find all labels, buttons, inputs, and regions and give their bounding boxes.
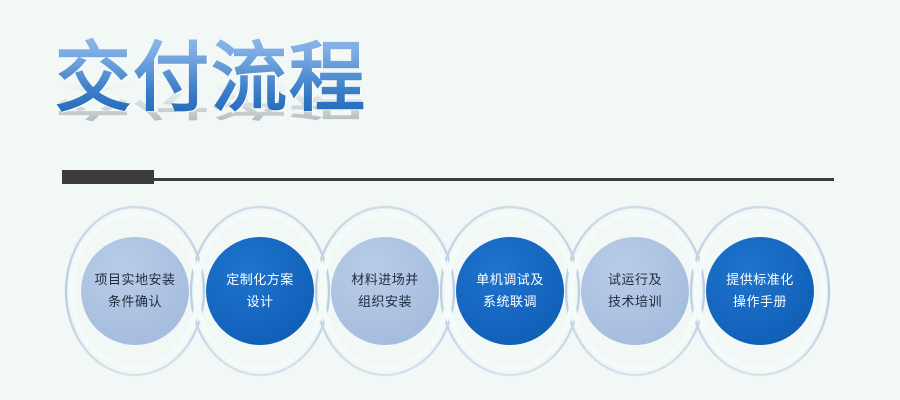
divider — [62, 170, 834, 184]
process-step-2-line1: 定制化方案 — [226, 269, 294, 291]
process-step-6-line1: 提供标准化 — [726, 269, 794, 291]
process-step-4-line2: 系统联调 — [483, 291, 537, 313]
process-step-5-line2: 技术培训 — [608, 291, 662, 313]
process-step-3-line2: 组织安装 — [358, 291, 412, 313]
title-block: 交付流程 交付流程 — [55, 36, 475, 156]
process-step-3[interactable]: 材料进场并 组织安装 — [331, 237, 439, 345]
process-step-4-line1: 单机调试及 — [476, 269, 544, 291]
delivery-process-flow: 项目实地安装 条件确认 定制化方案 设计 材料进场并 组织安装 单机调试及 系统… — [0, 200, 900, 400]
process-step-1-line1: 项目实地安装 — [94, 269, 175, 291]
divider-block — [62, 170, 154, 184]
process-step-3-line1: 材料进场并 — [351, 269, 419, 291]
process-step-4[interactable]: 单机调试及 系统联调 — [456, 237, 564, 345]
process-step-6-line2: 操作手册 — [733, 291, 787, 313]
process-step-1-line2: 条件确认 — [108, 291, 162, 313]
process-step-6[interactable]: 提供标准化 操作手册 — [706, 237, 814, 345]
process-step-5[interactable]: 试运行及 技术培训 — [581, 237, 689, 345]
process-step-2-line2: 设计 — [246, 291, 273, 313]
slide-canvas: 交付流程 交付流程 项目实地安装 条件确认 定制化方案 — [0, 0, 900, 400]
process-step-5-line1: 试运行及 — [608, 269, 662, 291]
page-title: 交付流程 — [55, 36, 475, 122]
divider-line — [154, 178, 834, 181]
process-step-2[interactable]: 定制化方案 设计 — [206, 237, 314, 345]
process-step-1[interactable]: 项目实地安装 条件确认 — [81, 237, 189, 345]
